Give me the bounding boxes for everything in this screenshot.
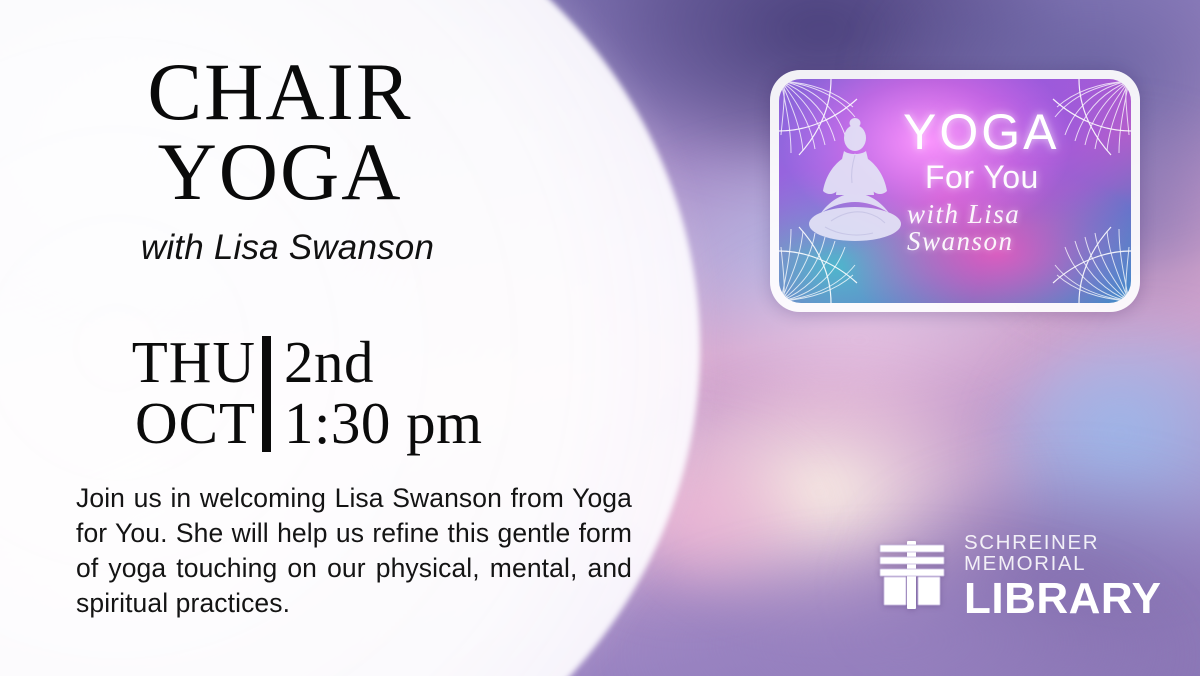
event-date-time: 2nd 1:30 pm — [284, 332, 483, 454]
event-date: 2nd — [284, 332, 483, 393]
library-name-top: SCHREINER MEMORIAL — [964, 533, 1200, 574]
vertical-divider — [262, 336, 271, 452]
logo-card-wordmark: YOGA For You with Lisa Swanson — [903, 107, 1131, 255]
brand-yoga: YOGA — [903, 107, 1131, 157]
event-flyer: CHAIR YOGA with Lisa Swanson THU OCT 2nd… — [0, 0, 1200, 676]
event-day-month: THU OCT — [0, 332, 256, 454]
event-day-name: THU — [0, 332, 256, 393]
brand-with-lisa-swanson: with Lisa Swanson — [903, 201, 1131, 255]
title-line-1: CHAIR — [147, 46, 412, 137]
event-date-block: THU OCT 2nd 1:30 pm — [0, 332, 660, 454]
presenter-subtitle: with Lisa Swanson — [0, 228, 575, 268]
yoga-for-you-logo-card: YOGA For You with Lisa Swanson — [770, 70, 1140, 312]
event-time: 1:30 pm — [284, 393, 483, 454]
library-logo: SCHREINER MEMORIAL LIBRARY — [876, 531, 1200, 620]
copy-column: CHAIR YOGA with Lisa Swanson THU OCT 2nd… — [0, 0, 660, 676]
library-wordmark: SCHREINER MEMORIAL LIBRARY — [964, 531, 1200, 620]
page-title: CHAIR YOGA — [0, 52, 560, 211]
meditating-person-icon — [801, 109, 909, 259]
title-line-2: YOGA — [0, 132, 560, 212]
logo-card-artwork: YOGA For You with Lisa Swanson — [779, 79, 1131, 303]
book-shelf-logo-icon — [876, 539, 948, 611]
event-month: OCT — [0, 393, 256, 454]
brand-for-you: For You — [903, 161, 1131, 193]
library-name-bottom: LIBRARY — [964, 578, 1200, 620]
event-description: Join us in welcoming Lisa Swanson from Y… — [76, 481, 632, 621]
